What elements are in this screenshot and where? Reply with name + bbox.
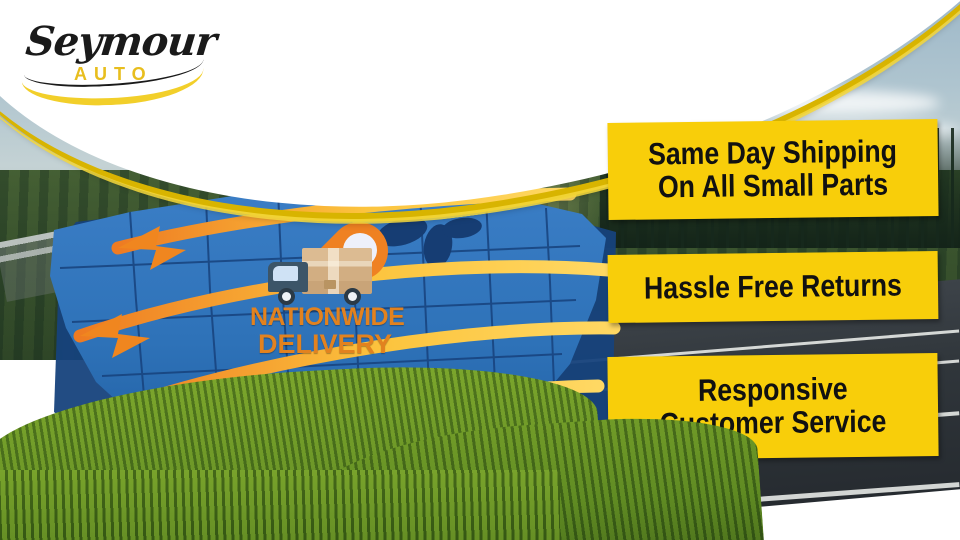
callout-3-line-1: Responsive — [698, 373, 848, 407]
callout-same-day-shipping: Same Day Shipping On All Small Parts — [607, 119, 938, 220]
delivery-truck-icon — [268, 248, 376, 306]
brand-subtitle: AUTO — [74, 64, 153, 85]
brand-name: Seymour — [24, 18, 219, 65]
caption-line-2: DELIVERY — [250, 331, 400, 359]
truck-box-label — [324, 280, 336, 289]
callout-2-line-1: Hassle Free Returns — [644, 269, 902, 304]
callout-1-line-2: On All Small Parts — [658, 168, 889, 203]
caption-line-1: NATIONWIDE — [250, 305, 400, 331]
truck-window — [273, 266, 298, 281]
promo-banner: NATIONWIDE DELIVERY Seymour AUTO Same Da… — [0, 0, 960, 540]
callout-hassle-free-returns: Hassle Free Returns — [608, 251, 939, 323]
brand-logo[interactable]: Seymour AUTO — [18, 12, 208, 96]
nationwide-delivery-caption: NATIONWIDE DELIVERY — [250, 305, 400, 358]
grass-bottom — [0, 470, 560, 540]
